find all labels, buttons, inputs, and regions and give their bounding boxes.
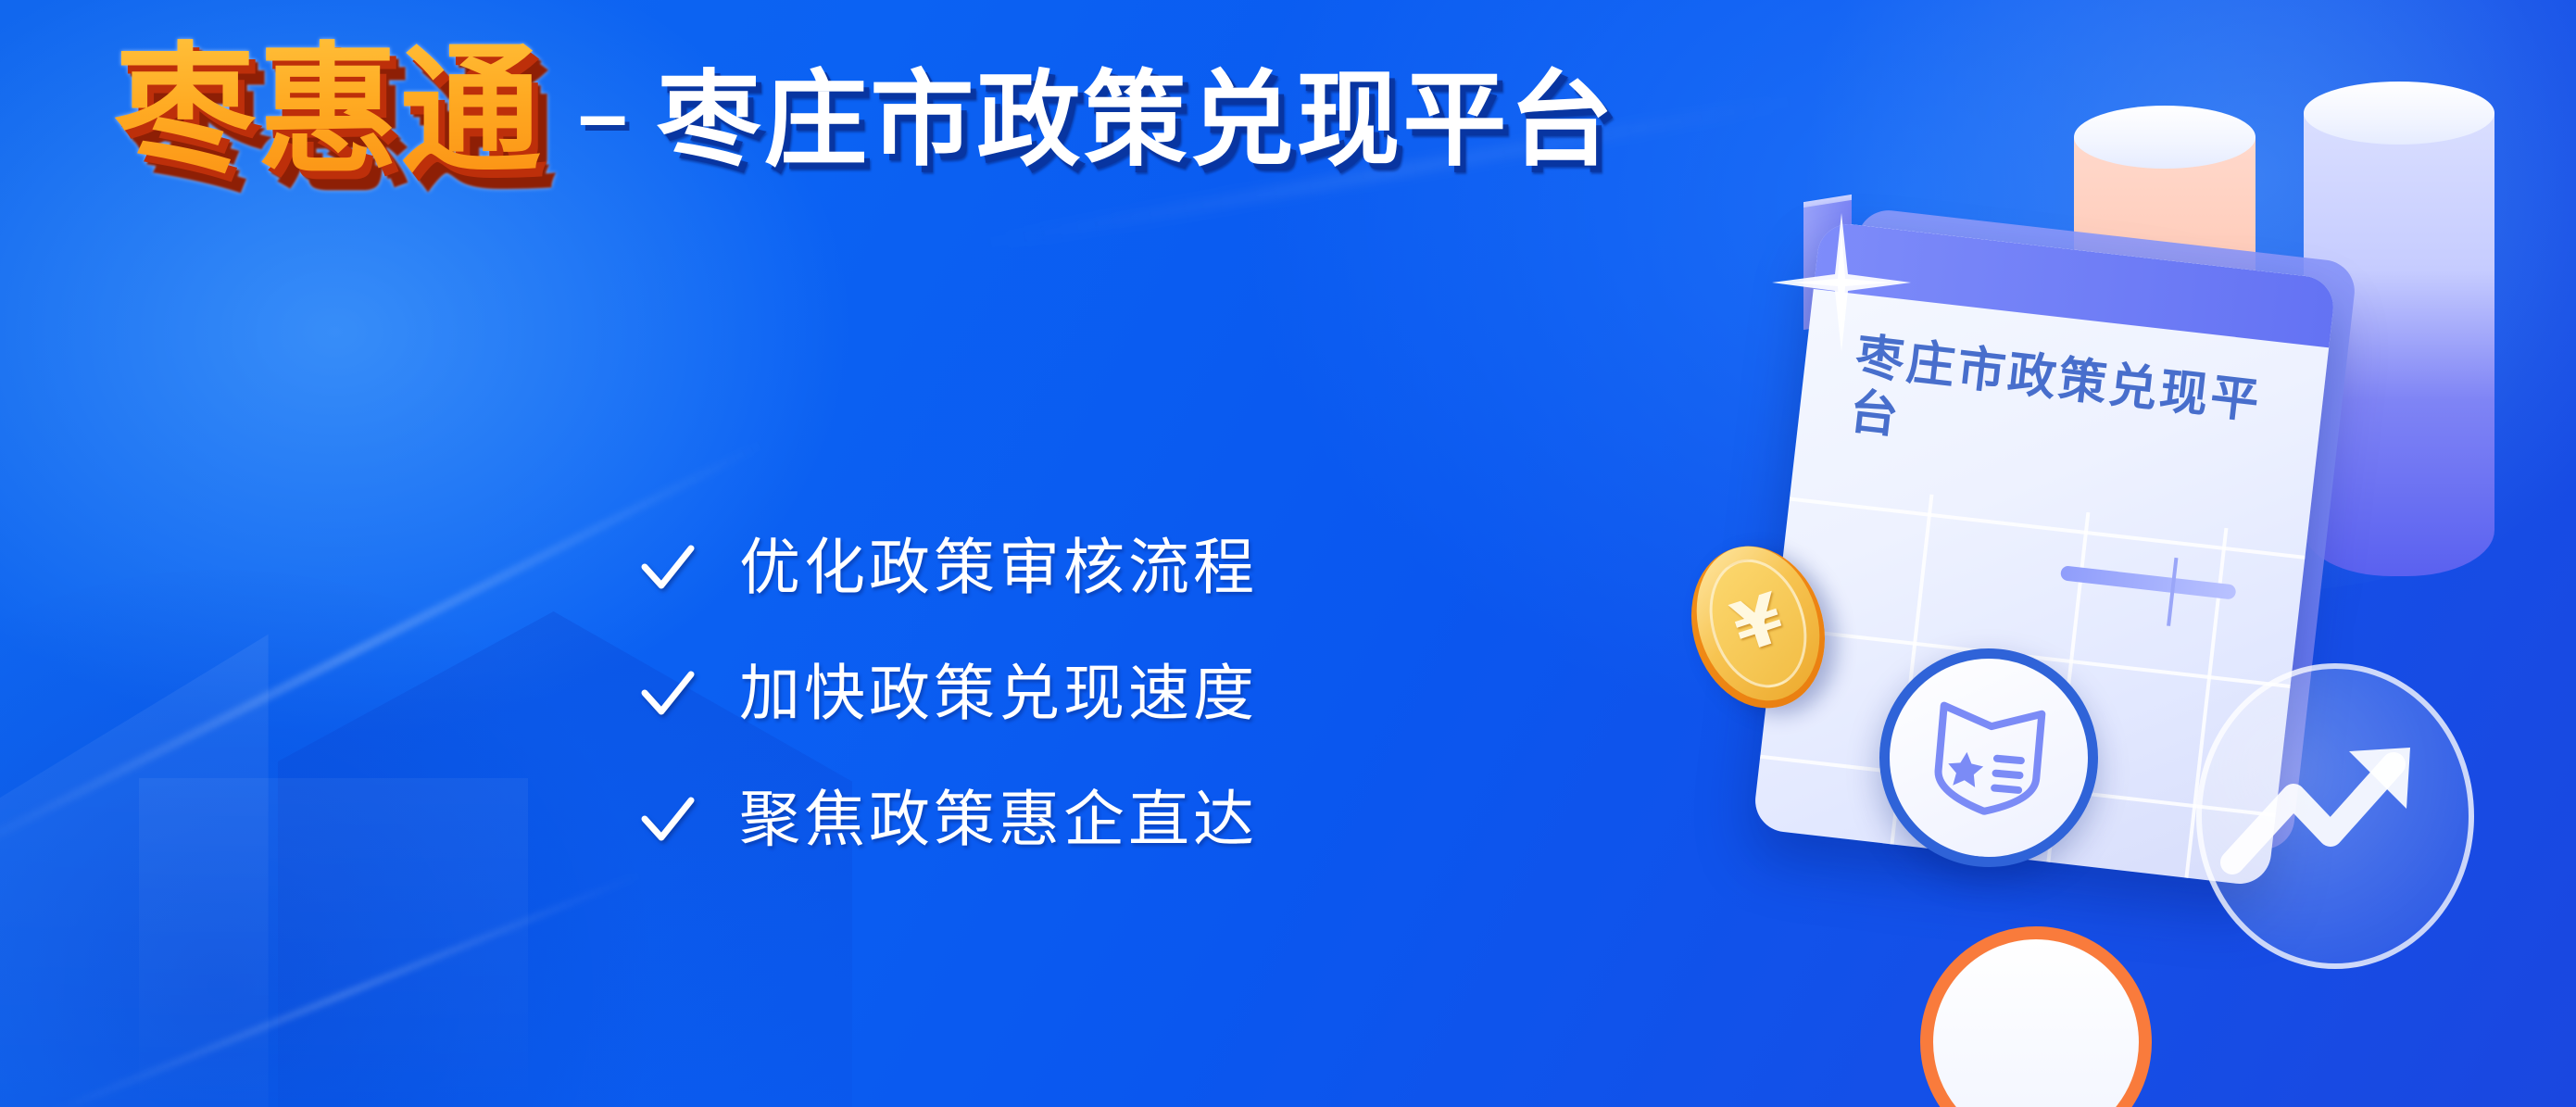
illustration: 枣庄市政策兑现平台 bbox=[1724, 0, 2576, 1107]
brand-title: 枣惠通 bbox=[111, 35, 547, 191]
headline: 枣惠通 – 枣庄市政策兑现平台 bbox=[111, 35, 1615, 191]
background-light-streak-2 bbox=[41, 870, 645, 1107]
sparkle-icon bbox=[1772, 213, 1911, 352]
feature-list: 优化政策审核流程 加快政策兑现速度 聚焦政策惠企直达 bbox=[639, 537, 1258, 850]
banner-root: 枣惠通 – 枣庄市政策兑现平台 优化政策审核流程 加快政策兑现速度 聚焦政策惠企… bbox=[0, 0, 2576, 1107]
title-separator: – bbox=[578, 70, 623, 159]
feature-label: 优化政策审核流程 bbox=[739, 537, 1258, 598]
background-glow-bottom-left bbox=[0, 570, 685, 1107]
check-icon bbox=[639, 791, 697, 849]
card-title: 枣庄市政策兑现平台 bbox=[1847, 330, 2293, 489]
trend-up-arrow-icon bbox=[2196, 663, 2474, 969]
feature-item: 加快政策兑现速度 bbox=[639, 663, 1258, 724]
background-building-silhouette-left bbox=[0, 593, 648, 1107]
feature-item: 聚焦政策惠企直达 bbox=[639, 789, 1258, 850]
orange-ring-decoration bbox=[1920, 926, 2152, 1107]
platform-subtitle: 枣庄市政策兑现平台 bbox=[657, 69, 1615, 172]
coin-yuan-symbol: ¥ bbox=[1725, 584, 1791, 663]
background-building-silhouette-small bbox=[139, 778, 528, 1107]
check-icon bbox=[639, 539, 697, 597]
check-icon bbox=[639, 665, 697, 723]
card-progress-bar bbox=[2060, 565, 2237, 599]
feature-label: 加快政策兑现速度 bbox=[739, 663, 1258, 724]
feature-item: 优化政策审核流程 bbox=[639, 537, 1258, 598]
feature-label: 聚焦政策惠企直达 bbox=[739, 789, 1258, 850]
coin-yuan-icon: ¥ bbox=[1693, 545, 1823, 710]
